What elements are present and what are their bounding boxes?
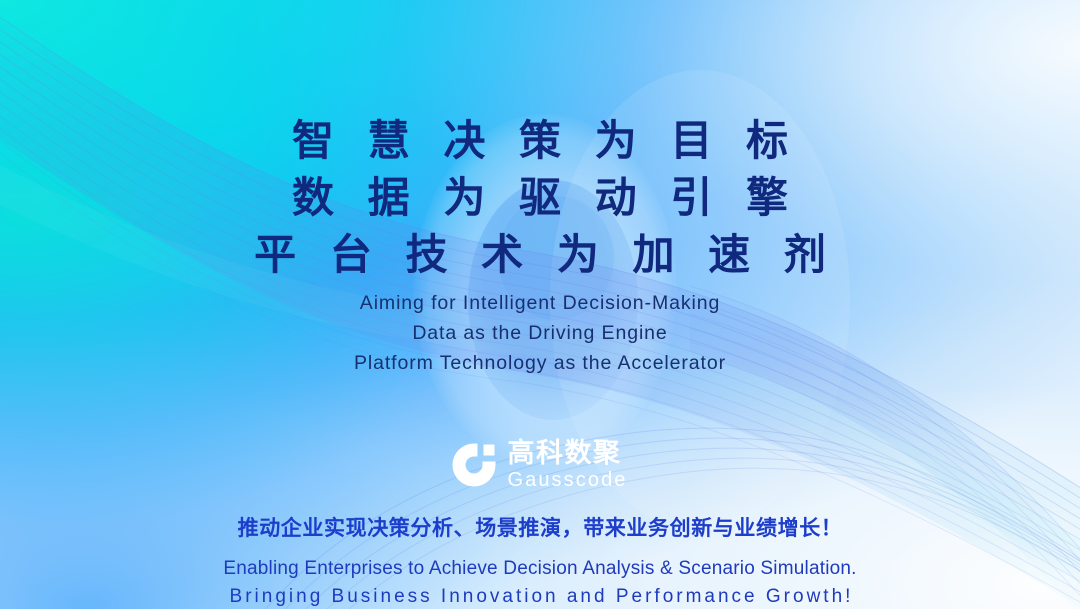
- headline-line-2: 数 据 为 驱 动 引 擎: [243, 169, 837, 226]
- subtitle-line-1: Aiming for Intelligent Decision-Making: [354, 288, 726, 318]
- logo-wordmark: 高科数聚 Gausscode: [507, 440, 627, 490]
- tagline-english-block: Enabling Enterprises to Achieve Decision…: [223, 555, 856, 609]
- subtitle-block: Aiming for Intelligent Decision-Making D…: [354, 288, 726, 378]
- banner-canvas: 智 慧 决 策 为 目 标 数 据 为 驱 动 引 擎 平 台 技 术 为 加 …: [0, 0, 1080, 609]
- gausscode-logo-mark-icon: [452, 443, 496, 487]
- banner-content: 智 慧 决 策 为 目 标 数 据 为 驱 动 引 擎 平 台 技 术 为 加 …: [0, 0, 1080, 609]
- tagline-english-line-2: Bringing Business Innovation and Perform…: [223, 583, 856, 609]
- subtitle-line-3: Platform Technology as the Accelerator: [354, 348, 726, 378]
- headline-line-3: 平 台 技 术 为 加 速 剂: [243, 226, 837, 283]
- logo-english-name: Gausscode: [507, 470, 627, 490]
- company-logo: 高科数聚 Gausscode: [452, 440, 627, 490]
- tagline-english-line-1: Enabling Enterprises to Achieve Decision…: [223, 555, 856, 583]
- tagline-chinese: 推动企业实现决策分析、场景推演，带来业务创新与业绩增长！: [238, 512, 843, 542]
- subtitle-line-2: Data as the Driving Engine: [354, 318, 726, 348]
- logo-chinese-name: 高科数聚: [507, 440, 627, 467]
- headline-line-1: 智 慧 决 策 为 目 标: [243, 112, 837, 169]
- headline: 智 慧 决 策 为 目 标 数 据 为 驱 动 引 擎 平 台 技 术 为 加 …: [243, 112, 837, 283]
